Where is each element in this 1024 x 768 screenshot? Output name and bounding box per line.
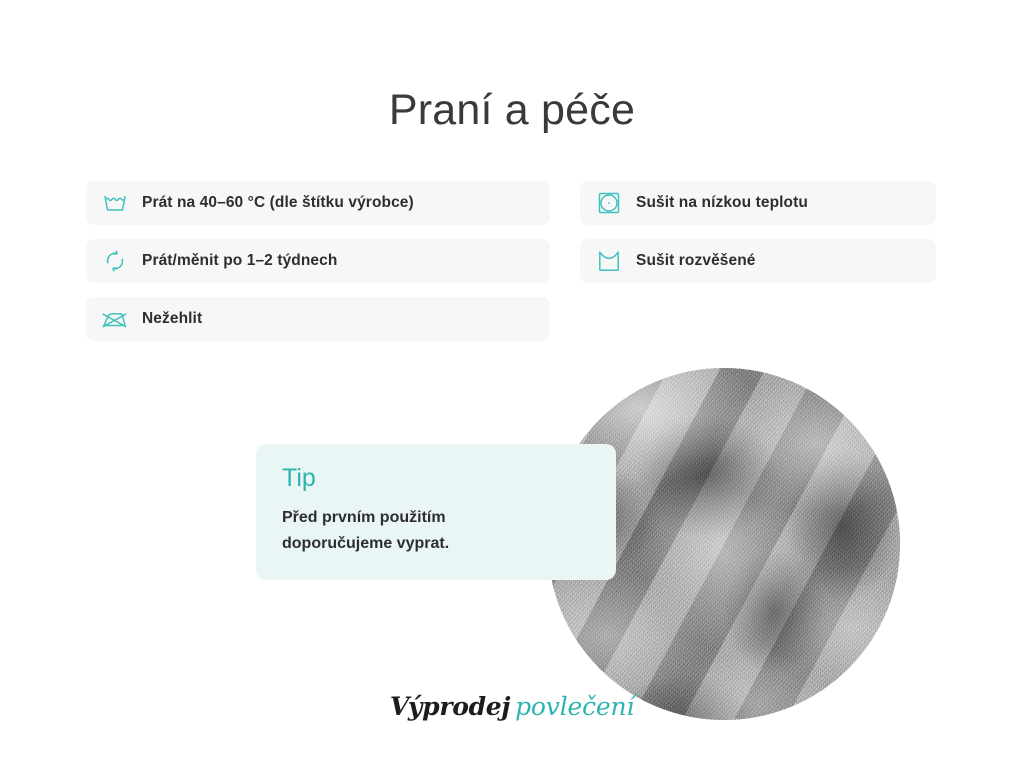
line-dry-icon <box>594 246 624 276</box>
care-row-label: Prát/měnit po 1–2 týdnech <box>142 252 337 270</box>
refresh-cycle-icon <box>100 246 130 276</box>
tip-card: Tip Před prvním použitím doporučujeme vy… <box>256 444 616 580</box>
care-row-wash-temperature[interactable]: Prát na 40–60 °C (dle štítku výrobce) <box>86 181 550 225</box>
care-row-label: Sušit na nízkou teplotu <box>636 194 808 212</box>
care-row-label: Sušit rozvěšené <box>636 252 756 270</box>
care-row-tumble-dry-low[interactable]: Sušit na nízkou teplotu <box>580 181 936 225</box>
care-list-right: Sušit na nízkou teplotu Sušit rozvěšené <box>580 181 936 297</box>
care-row-label: Prát na 40–60 °C (dle štítku výrobce) <box>142 194 414 212</box>
tumble-dry-low-icon <box>594 188 624 218</box>
page-title: Praní a péče <box>0 87 1024 134</box>
care-row-line-dry[interactable]: Sušit rozvěšené <box>580 239 936 283</box>
tip-title: Tip <box>282 466 590 491</box>
brand-logo-part-2: povlečení <box>515 692 634 721</box>
do-not-iron-icon <box>100 304 130 334</box>
care-row-do-not-iron[interactable]: Nežehlit <box>86 297 550 341</box>
brand-logo[interactable]: Výprodejpovlečení <box>0 694 1024 719</box>
care-row-label: Nežehlit <box>142 310 202 328</box>
brand-logo-part-1: Výprodej <box>390 692 510 721</box>
care-list-left: Prát na 40–60 °C (dle štítku výrobce) Pr… <box>86 181 550 355</box>
care-row-wash-frequency[interactable]: Prát/měnit po 1–2 týdnech <box>86 239 550 283</box>
care-instructions-page: Praní a péče Prát na 40–60 °C (dle štítk… <box>0 0 1024 768</box>
tip-body: Před prvním použitím doporučujeme vyprat… <box>282 505 542 556</box>
wash-tub-icon <box>100 188 130 218</box>
